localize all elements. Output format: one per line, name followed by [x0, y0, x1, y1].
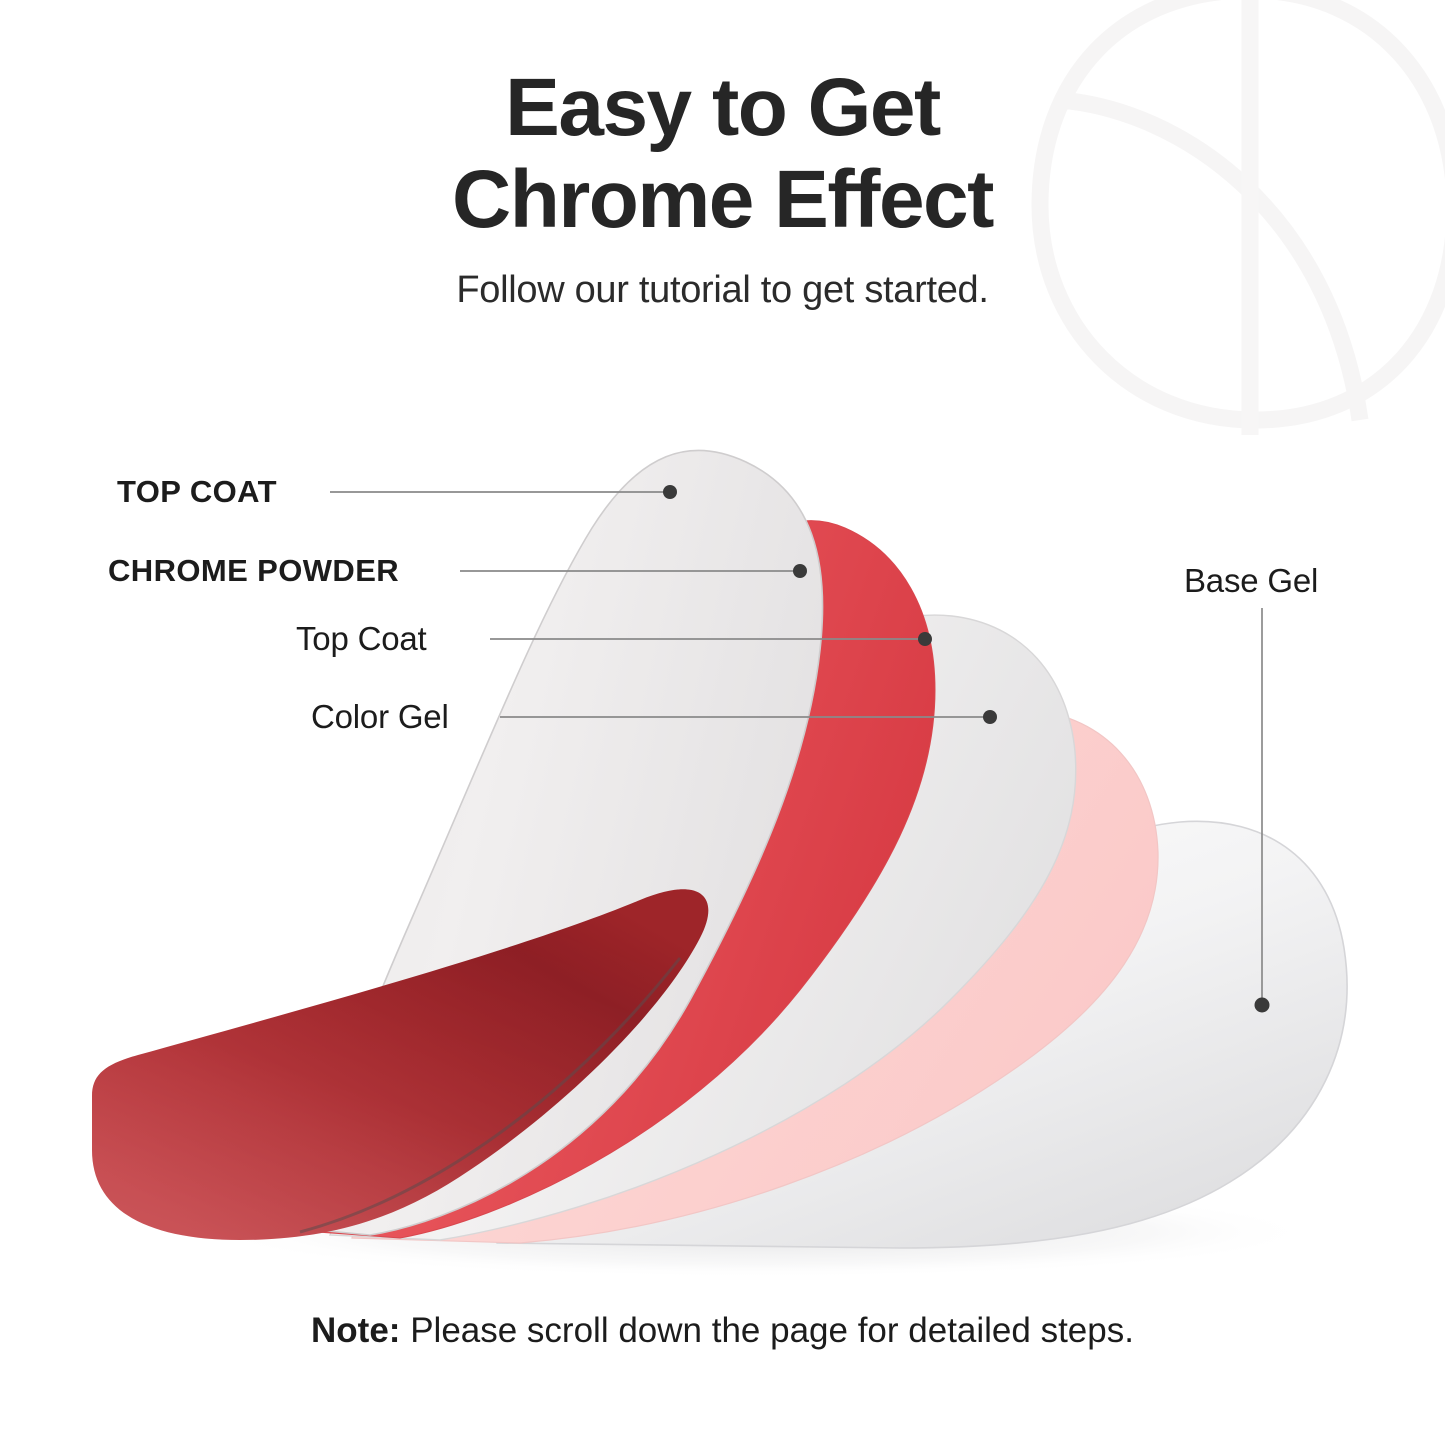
footer-note: Note: Please scroll down the page for de…	[0, 1311, 1445, 1351]
leader-dot-color-gel	[983, 710, 997, 724]
callout-label-base-gel: Base Gel	[1184, 562, 1318, 600]
leader-dot-top-coat	[918, 632, 932, 646]
footer-note-text: Please scroll down the page for detailed…	[400, 1311, 1134, 1350]
nail-layer-diagram	[0, 0, 1445, 1445]
callout-label-chrome-powder: CHROME POWDER	[108, 553, 399, 589]
leader-dot-base-gel	[1255, 998, 1270, 1013]
poster-canvas: Easy to Get Chrome Effect Follow our tut…	[0, 0, 1445, 1445]
leader-dot-top-coat-bold	[663, 485, 677, 499]
callout-label-color-gel: Color Gel	[311, 698, 449, 736]
footer-note-prefix: Note:	[311, 1311, 400, 1350]
callout-label-top-coat-bold: TOP COAT	[117, 474, 277, 510]
callout-label-top-coat: Top Coat	[296, 620, 426, 658]
leader-dot-chrome-powder	[793, 564, 807, 578]
